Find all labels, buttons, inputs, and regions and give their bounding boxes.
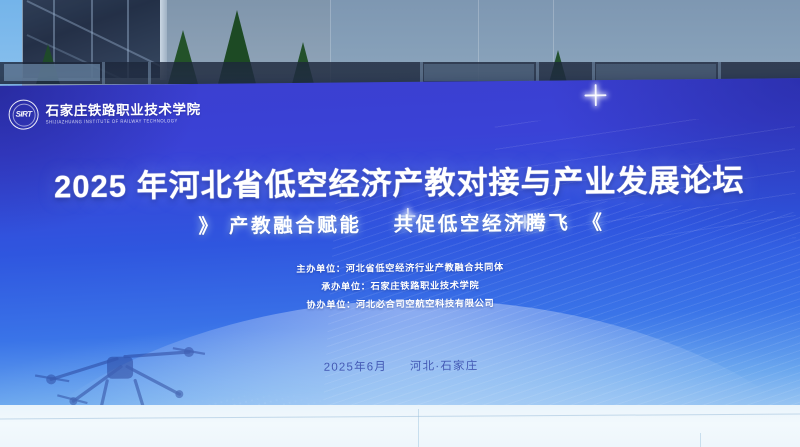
- chevron-left-icon: 《: [578, 206, 605, 235]
- floor-surface: [0, 405, 800, 447]
- screenshot-root: SIRT 石家庄铁路职业技术学院 SHIJIAZHUANG INSTITUTE …: [0, 0, 800, 447]
- logo-monogram: SIRT: [16, 111, 32, 119]
- logo-name-cn: 石家庄铁路职业技术学院: [46, 103, 201, 118]
- subtitle-text-right: 共促低空经济腾飞: [394, 212, 571, 236]
- subtitle-text-left: 产教融合赋能: [229, 214, 362, 237]
- conference-banner: SIRT 石家庄铁路职业技术学院 SHIJIAZHUANG INSTITUTE …: [0, 78, 800, 434]
- chevron-right-icon: 》: [194, 210, 221, 239]
- organizer-block: 主办单位：河北省低空经济行业产教融合共同体 承办单位：石家庄铁路职业技术学院 协…: [0, 255, 800, 317]
- banner-main-title: 2025 年河北省低空经济产教对接与产业发展论坛: [0, 154, 800, 207]
- logo-emblem-icon: SIRT: [8, 99, 38, 129]
- event-date: 2025年6月: [324, 361, 388, 374]
- event-location: 河北·石家庄: [410, 360, 479, 373]
- floor-seam: [700, 433, 701, 447]
- institution-logo: SIRT 石家庄铁路职业技术学院 SHIJIAZHUANG INSTITUTE …: [8, 98, 200, 130]
- floor-seam: [418, 409, 419, 447]
- floor-joint-line: [0, 414, 800, 420]
- logo-name-en: SHIJIAZHUANG INSTITUTE OF RAILWAY TECHNO…: [46, 118, 201, 124]
